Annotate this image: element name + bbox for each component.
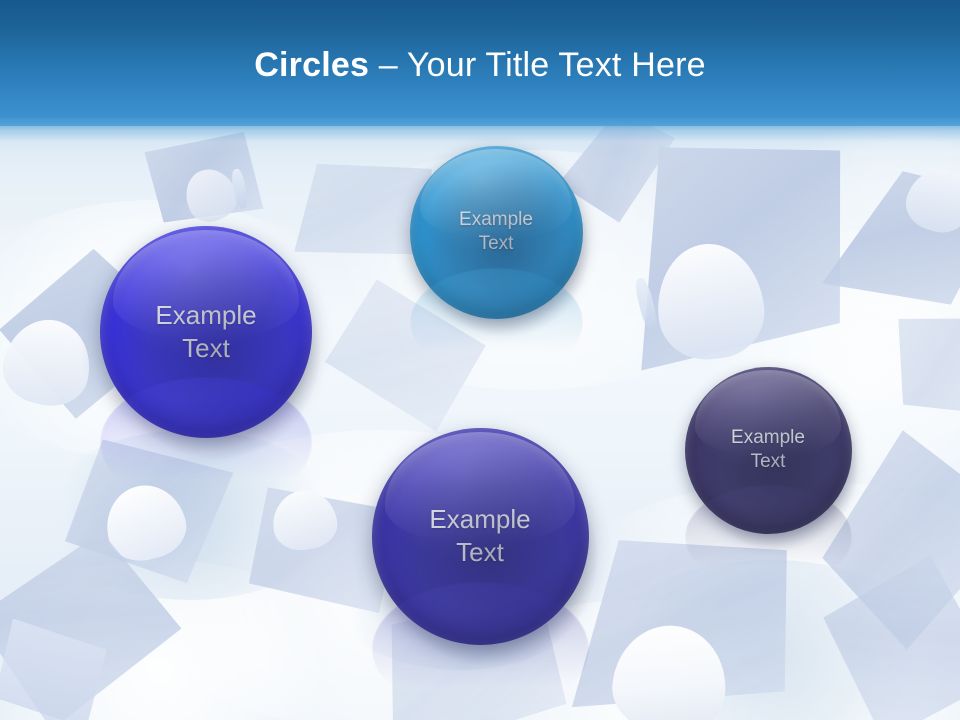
circle-bottom[interactable]: ExampleText — [372, 428, 589, 645]
page-title-bold: Circles — [254, 46, 369, 84]
circle-label-line1: Example — [155, 299, 256, 332]
circle-label: ExampleText — [130, 299, 282, 366]
circle-label-line2: Text — [155, 332, 256, 365]
circle-label-line1: Example — [731, 426, 805, 450]
circle-top[interactable]: ExampleText — [410, 146, 583, 319]
circle-label-line1: Example — [429, 503, 530, 536]
slide-canvas: Circles – Your Title Text Here ExampleTe… — [0, 0, 960, 720]
page-title-separator: – — [369, 46, 407, 84]
circle-left[interactable]: ExampleText — [100, 226, 312, 438]
circle-label-line2: Text — [731, 450, 805, 474]
circle-label-line1: Example — [459, 208, 533, 232]
circle-label: ExampleText — [403, 503, 556, 570]
circle-label: ExampleText — [711, 426, 825, 475]
circle-label-line2: Text — [429, 536, 530, 569]
circle-right[interactable]: ExampleText — [685, 367, 852, 534]
page-title-rest: Your Title Text Here — [407, 46, 706, 84]
page-title: Circles – Your Title Text Here — [0, 44, 960, 86]
circle-label-line2: Text — [459, 232, 533, 256]
graduation-cap-icon — [571, 530, 800, 720]
circle-label: ExampleText — [438, 208, 553, 257]
